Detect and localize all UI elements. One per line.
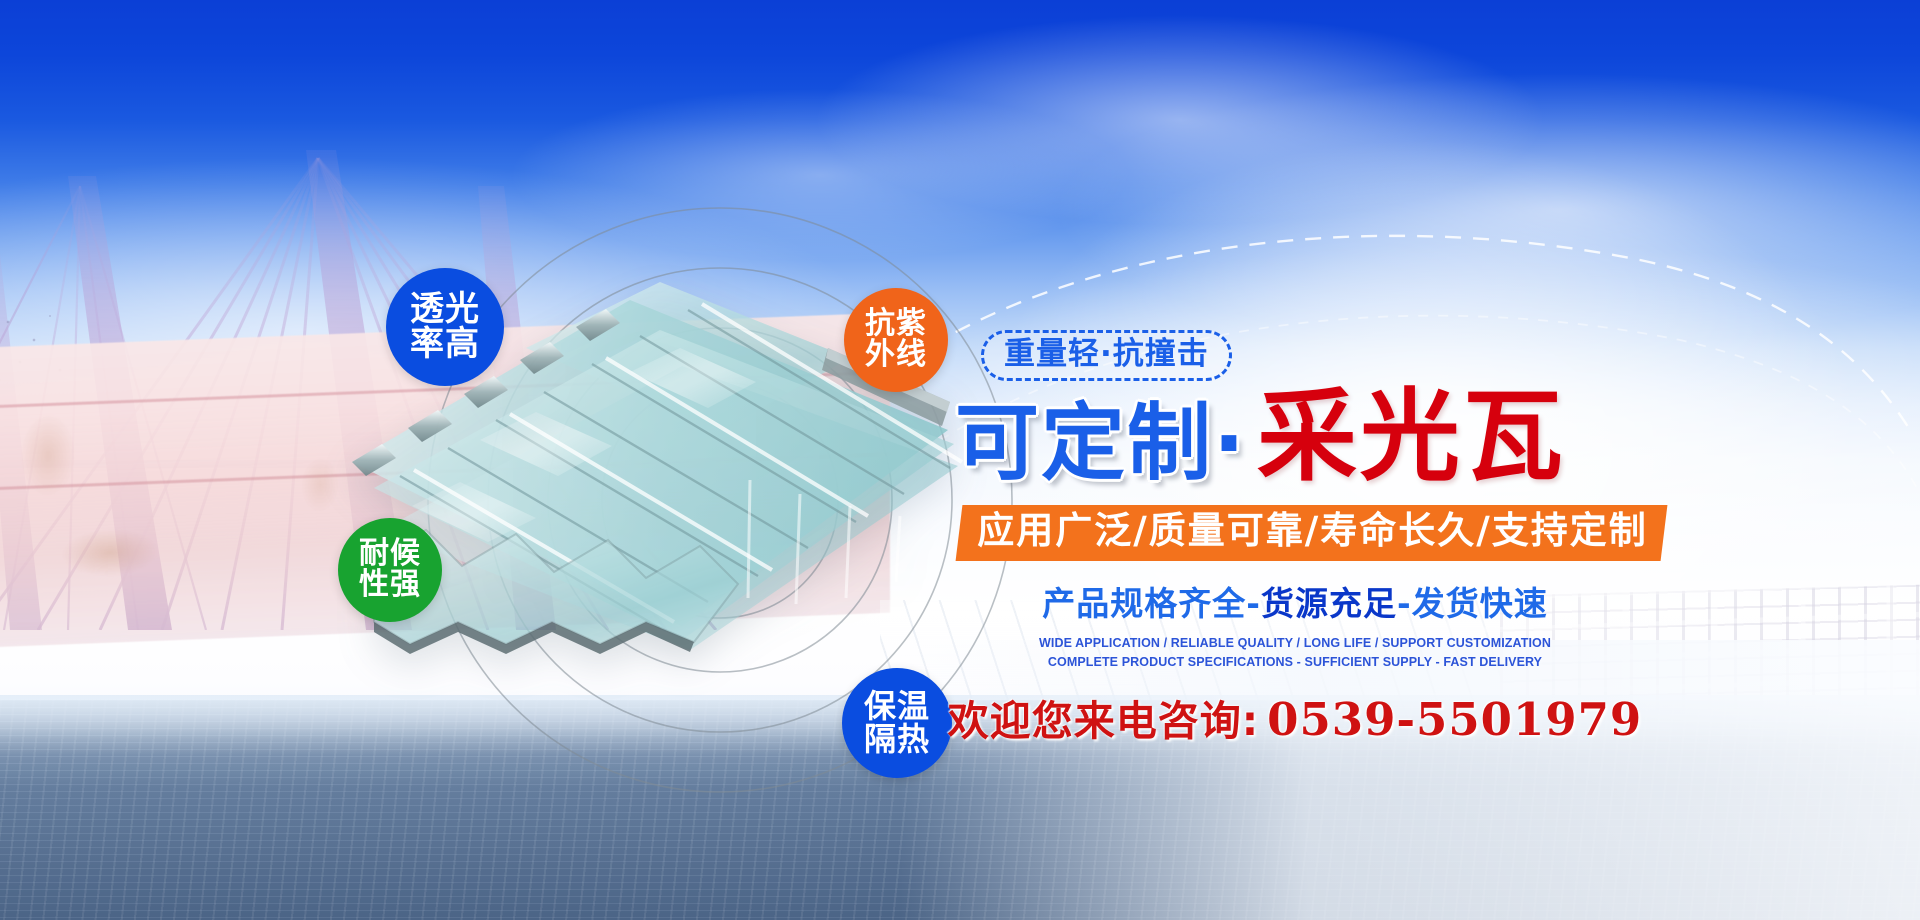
feature-badge-weather-resistance[interactable]: 耐候 性强: [338, 518, 442, 622]
subline-highlight: 货源充足: [1261, 584, 1397, 623]
subline-part1: 产品规格齐全: [1042, 584, 1246, 623]
supply-subline: 产品规格齐全-货源充足-发货快速: [975, 577, 1615, 625]
promotional-banner: 透光 率高 抗紫 外线 耐候 性强 保温 隔热 重量轻·抗撞击 可定制 · 采光…: [0, 0, 1920, 920]
features-strip-text: 应用广泛/质量可靠/寿命长久/支持定制: [977, 511, 1648, 551]
tagline-pill: 重量轻·抗撞击: [981, 330, 1232, 381]
badge-line-1: 透光: [410, 292, 480, 327]
headline-customizable: 可定制: [955, 401, 1213, 485]
badge-line-2: 率高: [410, 327, 480, 362]
english-subtitle-block: WIDE APPLICATION / RELIABLE QUALITY / LO…: [975, 634, 1615, 673]
feature-badge-insulation[interactable]: 保温 隔热: [842, 668, 952, 778]
badge-line-2: 外线: [865, 340, 927, 371]
english-line-2: COMPLETE PRODUCT SPECIFICATIONS - SUFFIC…: [975, 653, 1615, 672]
badge-line-1: 抗紫: [865, 309, 927, 340]
badge-line-2: 性强: [359, 570, 421, 601]
badge-line-2: 隔热: [864, 723, 930, 756]
headline-product-name: 采光瓦: [1257, 389, 1566, 485]
badge-line-1: 耐候: [359, 539, 421, 570]
contact-phone-line[interactable]: 欢迎您来电咨询:0539-5501979: [945, 687, 1645, 747]
feature-badge-translucency[interactable]: 透光 率高: [386, 268, 504, 386]
subline-part2: 发货快速: [1412, 584, 1548, 623]
phone-number: 0539-5501979: [1267, 693, 1642, 746]
english-line-1: WIDE APPLICATION / RELIABLE QUALITY / LO…: [975, 634, 1615, 653]
marketing-copy-block: 重量轻·抗撞击 可定制 · 采光瓦 应用广泛/质量可靠/寿命长久/支持定制 产品…: [955, 330, 1715, 747]
badge-line-1: 保温: [864, 690, 930, 723]
features-strip: 应用广泛/质量可靠/寿命长久/支持定制: [956, 505, 1667, 561]
subline-dash2: -: [1397, 584, 1412, 623]
feature-badge-uv-resistance[interactable]: 抗紫 外线: [844, 288, 948, 392]
subline-dash1: -: [1246, 584, 1261, 623]
headline: 可定制 · 采光瓦: [955, 389, 1715, 485]
headline-separator: ·: [1213, 401, 1247, 485]
phone-label: 欢迎您来电咨询:: [948, 697, 1259, 745]
